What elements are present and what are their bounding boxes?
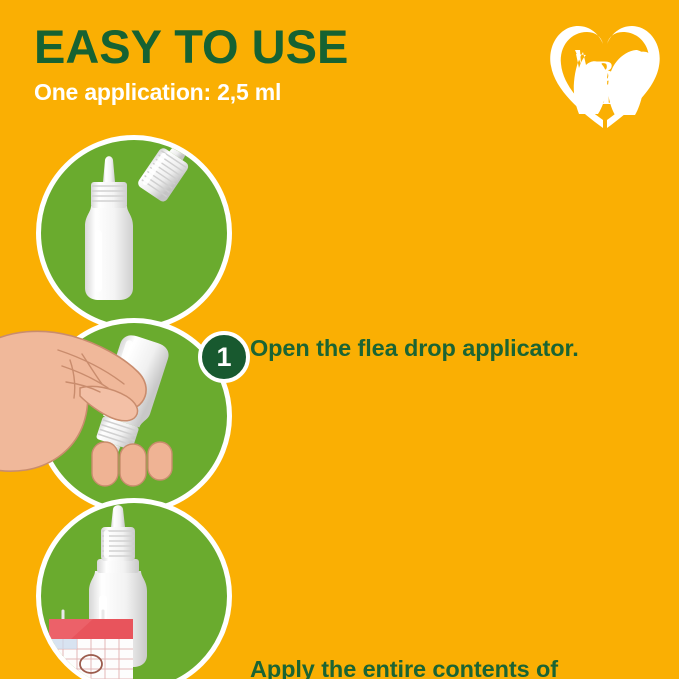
- step-1: 1 Open the flea drop applicator.: [36, 135, 656, 335]
- bottle-cap: [136, 140, 204, 203]
- bottle-tip: [111, 505, 125, 527]
- brand-logo: B P: [545, 16, 665, 134]
- step-1-badge: 1: [198, 331, 250, 383]
- logo-monogram-p: P: [601, 78, 619, 111]
- calendar-icon: [49, 611, 133, 679]
- step-1-circle: [36, 135, 232, 331]
- page-title: EASY TO USE: [34, 22, 494, 71]
- step-3: 3 Reapply once a month.: [36, 498, 656, 679]
- header: EASY TO USE One application: 2,5 ml: [34, 22, 494, 106]
- step-2: 2 Apply the entire contents of the appli…: [36, 318, 656, 518]
- step-3-illustration: [36, 498, 232, 679]
- page-subtitle: One application: 2,5 ml: [34, 79, 494, 106]
- instruction-poster: EASY TO USE One application: 2,5 ml B: [0, 0, 679, 679]
- inverted-bottle: [81, 332, 171, 479]
- step-1-illustration: [36, 135, 232, 331]
- bottle-nozzle: [103, 156, 115, 182]
- bottle-body: [85, 206, 133, 300]
- step-3-circle: [36, 498, 232, 679]
